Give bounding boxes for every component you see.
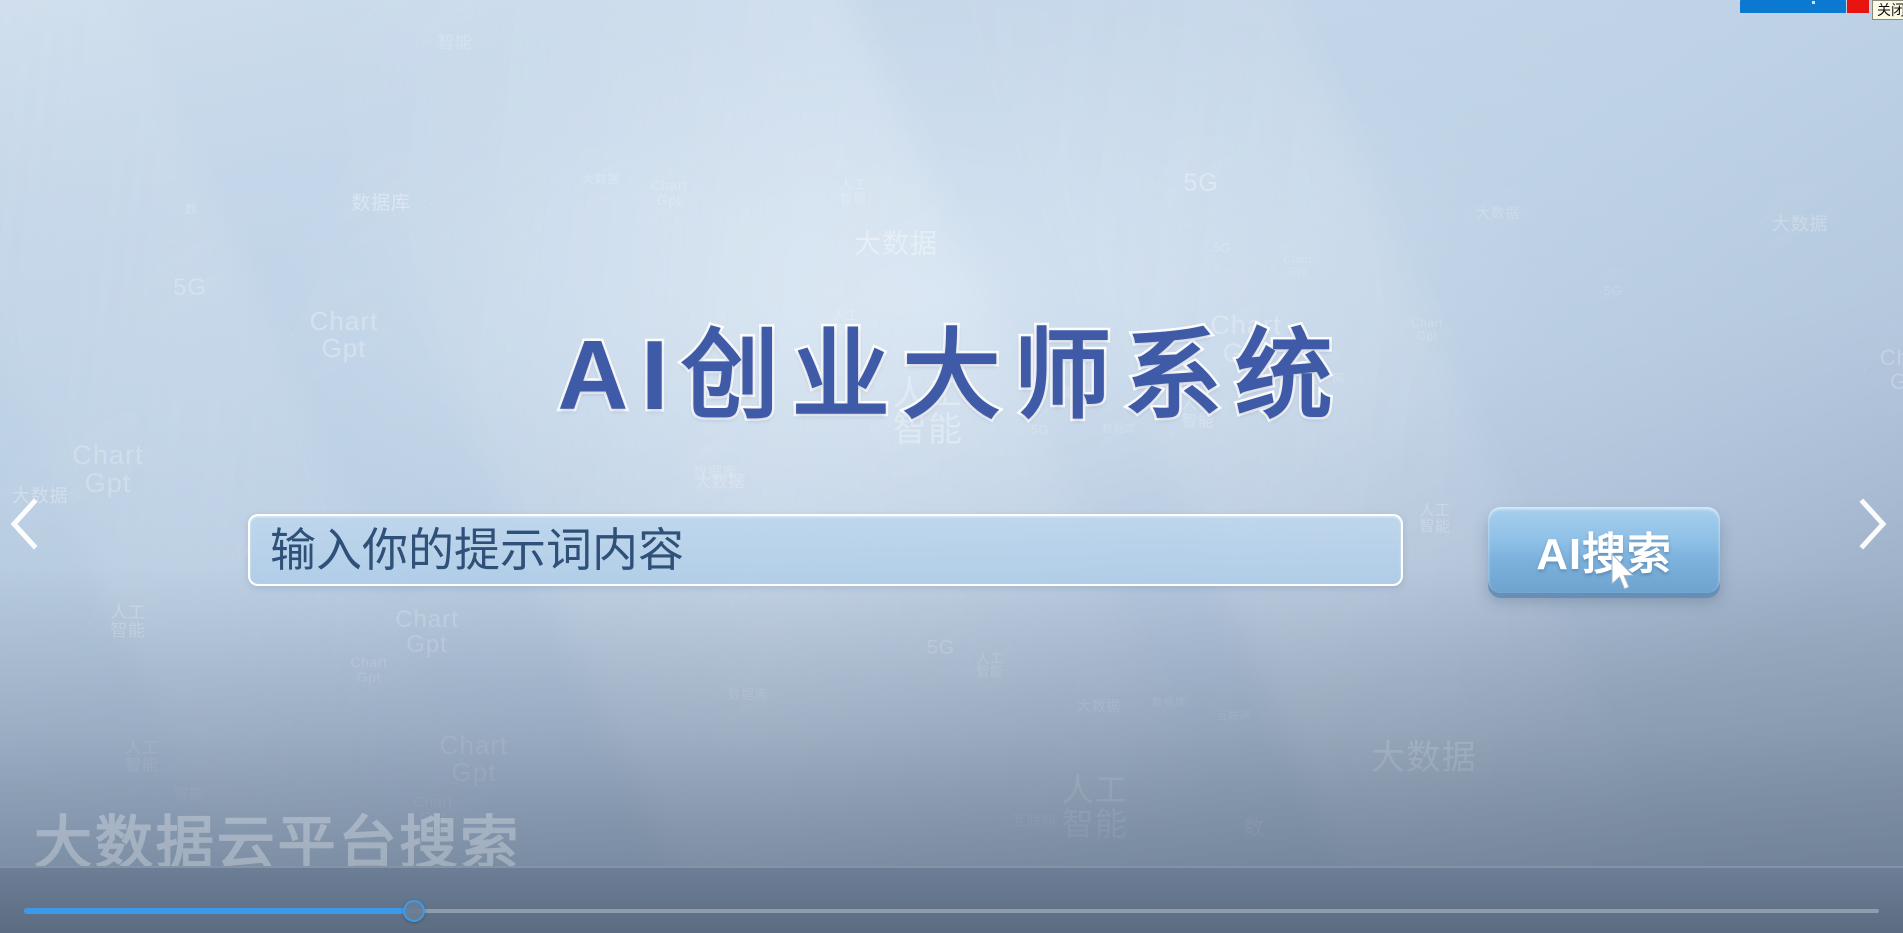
player-control-bar bbox=[0, 866, 1903, 933]
hexagon-label: 人工 智能 bbox=[976, 652, 1003, 679]
search-bar: AI搜索 bbox=[248, 510, 1738, 590]
hexagon-outline-icon bbox=[1158, 136, 1244, 231]
hexagon-label: 5G bbox=[173, 275, 207, 300]
carousel-next-button[interactable] bbox=[1845, 492, 1897, 556]
hexagon-outline-icon bbox=[1760, 180, 1840, 268]
hexagon-outline-icon bbox=[338, 636, 400, 704]
hexagon-outline-icon bbox=[330, 148, 432, 260]
hexagon-tag: 大数据 bbox=[838, 180, 954, 308]
hexagon-label: 人工 智能 bbox=[110, 604, 145, 640]
hexagon-outline-icon bbox=[378, 578, 476, 686]
hexagon-label: 5G bbox=[927, 638, 955, 659]
hexagon-outline-icon bbox=[54, 410, 162, 529]
hexagon-tag: 智能 bbox=[416, 0, 494, 86]
hexagon-tag: 人工 智能 bbox=[822, 158, 884, 226]
hexagon-label: 大数据 bbox=[854, 230, 938, 258]
hexagon-label: 数据库 bbox=[1152, 698, 1186, 710]
hexagon-outline-icon bbox=[958, 630, 1022, 700]
hexagon-label: 人工 智能 bbox=[125, 741, 158, 775]
progress-handle[interactable] bbox=[403, 900, 425, 922]
hexagon-outline-icon bbox=[104, 716, 180, 800]
chevron-right-icon bbox=[1845, 492, 1897, 556]
light-streak bbox=[0, 0, 563, 866]
carousel-prev-button[interactable] bbox=[0, 492, 52, 556]
hexagon-label: 数据库 bbox=[351, 194, 410, 214]
hexagon-tag: Chart Gpt bbox=[54, 410, 162, 529]
hexagon-label: Chart Gpt bbox=[72, 441, 143, 498]
hexagon-tag: 5G bbox=[1200, 224, 1244, 272]
hexagon-outline-icon bbox=[88, 578, 168, 666]
progress-fill bbox=[24, 908, 414, 914]
close-button[interactable] bbox=[1847, 0, 1869, 13]
hexagon-label: 互联网 bbox=[1012, 814, 1056, 829]
hexagon-tag: 人工 智能 bbox=[88, 578, 168, 666]
search-input[interactable] bbox=[248, 514, 1403, 586]
hexagon-tag: 人工 智能 bbox=[104, 716, 180, 800]
hexagon-outline-icon bbox=[154, 756, 224, 833]
hexagon-outline-icon bbox=[1214, 784, 1294, 866]
hexagon-label: Chart Gpt bbox=[1283, 255, 1312, 278]
hexagon-outline-icon bbox=[1140, 672, 1198, 736]
hexagon-label: 数据库 bbox=[728, 688, 769, 702]
hexagon-label: 5G bbox=[1604, 284, 1622, 298]
control-bar-divider bbox=[0, 866, 1903, 868]
light-streak bbox=[298, 0, 1261, 866]
hexagon-tag: 大数据 bbox=[1352, 680, 1496, 838]
hexagon-tag: 数据库 bbox=[716, 660, 780, 730]
hexagon-tag: 人工 智能 bbox=[958, 630, 1022, 700]
hexagon-label: 数据库 bbox=[693, 465, 737, 480]
hexagon-tag: 大数据 bbox=[1760, 180, 1840, 268]
app-screen: 数据库5G数大数据Chart GptChart Gpt大数据Chart Gpt人… bbox=[0, 0, 1903, 933]
hexagon-tag: 大数据 bbox=[1462, 174, 1534, 253]
hexagon-outline-icon bbox=[145, 238, 235, 337]
hexagon-tag: 大数据 bbox=[570, 145, 632, 213]
hexagon-tag: 人工 智能 bbox=[1030, 736, 1160, 866]
hexagon-label: 互联网 bbox=[1217, 711, 1251, 723]
hexagon-label: Chart Gpt bbox=[650, 178, 687, 207]
hexagon-outline-icon bbox=[416, 0, 494, 86]
hexagon-tag: 大数据 bbox=[1064, 668, 1134, 745]
hexagon-tag: Chart Gpt bbox=[378, 578, 476, 686]
hexagon-tag: Chart Gpt bbox=[630, 150, 708, 236]
hexagon-outline-icon bbox=[1030, 736, 1160, 866]
hexagon-outline-icon bbox=[1000, 784, 1068, 859]
hexagon-outline-icon bbox=[678, 432, 752, 513]
hexagon-outline-icon bbox=[420, 700, 528, 819]
hexagon-label: 大数据 bbox=[1077, 699, 1121, 714]
hexagon-label: Chart Gpt bbox=[440, 732, 509, 787]
hero-banner: 数据库5G数大数据Chart GptChart Gpt大数据Chart Gpt人… bbox=[0, 0, 1903, 866]
close-tooltip: 关闭 bbox=[1872, 0, 1903, 20]
hexagon-outline-icon bbox=[1352, 680, 1496, 838]
ai-search-button[interactable]: AI搜索 bbox=[1488, 507, 1720, 593]
hexagon-label: 大数据 bbox=[695, 475, 745, 492]
hexagon-outline-icon bbox=[838, 180, 954, 308]
hexagon-outline-icon bbox=[630, 150, 708, 236]
hexagon-label: 智能 bbox=[173, 787, 204, 803]
hexagon-outline-icon bbox=[1592, 268, 1634, 314]
system-progress-indicator bbox=[1740, 0, 1846, 13]
hexagon-label: 智能 bbox=[437, 34, 472, 52]
hexagon-tag: 5G bbox=[145, 238, 235, 337]
playback-progress-slider[interactable] bbox=[24, 908, 1879, 914]
hexagon-tag: Chart Gpt bbox=[1272, 238, 1324, 295]
hexagon-label: 数 bbox=[185, 203, 197, 216]
hexagon-label: 大数据 bbox=[582, 173, 619, 186]
hexagon-tag: 数 bbox=[170, 186, 212, 232]
hexagon-label: 大数据 bbox=[1772, 215, 1828, 234]
progress-notch bbox=[1812, 1, 1815, 4]
hexagon-outline-icon bbox=[906, 610, 976, 687]
hexagon-label: 5G bbox=[1213, 241, 1231, 255]
hexagon-label: 人工 智能 bbox=[839, 178, 866, 205]
light-streak bbox=[929, 0, 1732, 866]
hexagon-tag: 5G bbox=[1592, 268, 1634, 314]
hexagon-outline-icon bbox=[1272, 238, 1324, 295]
hexagon-label: Chart Gpt bbox=[395, 607, 459, 657]
hexagon-tag: 互联网 bbox=[1206, 686, 1262, 748]
hexagon-tag: 数据库 bbox=[330, 148, 432, 260]
hexagon-tag: 智能 bbox=[154, 756, 224, 833]
hexagon-outline-icon bbox=[400, 774, 466, 847]
hexagon-label: 人工 智能 bbox=[1062, 774, 1129, 841]
page-title: AI创业大师系统 bbox=[0, 326, 1903, 424]
hexagon-tag: Chart Gpt bbox=[400, 774, 466, 847]
hexagon-label: Chart Gpt bbox=[413, 795, 453, 827]
hexagon-label: 数 bbox=[1244, 818, 1265, 839]
hexagon-outline-icon bbox=[716, 660, 780, 730]
hexagon-outline-icon bbox=[570, 145, 632, 213]
hexagon-label: 大数据 bbox=[1476, 206, 1520, 221]
hexagon-outline-icon bbox=[822, 158, 884, 226]
hexagon-outline-icon bbox=[1064, 668, 1134, 745]
hexagon-outline-icon bbox=[1200, 224, 1244, 272]
hexagon-label: 5G bbox=[1183, 170, 1218, 196]
hexagon-tag: 数 bbox=[1214, 784, 1294, 866]
hexagon-outline-icon bbox=[1206, 686, 1262, 748]
hexagon-tag: 互联网 bbox=[1000, 784, 1068, 859]
hexagon-tag: 数据库 bbox=[678, 432, 752, 513]
hexagon-label: Chart Gpt bbox=[350, 655, 387, 684]
hexagon-tag: 5G bbox=[906, 610, 976, 687]
hexagon-tag: Chart Gpt bbox=[338, 636, 400, 704]
chevron-left-icon bbox=[0, 492, 52, 556]
hexagon-outline-icon bbox=[1462, 174, 1534, 253]
hexagon-label: 大数据 bbox=[1371, 741, 1477, 777]
hexagon-tag: 5G bbox=[1158, 136, 1244, 231]
banner-bottom-haze bbox=[0, 566, 1903, 866]
hexagon-tag: 数据库 bbox=[1140, 672, 1198, 736]
hexagon-outline-icon bbox=[170, 186, 212, 232]
hexagon-tag: Chart Gpt bbox=[420, 700, 528, 819]
